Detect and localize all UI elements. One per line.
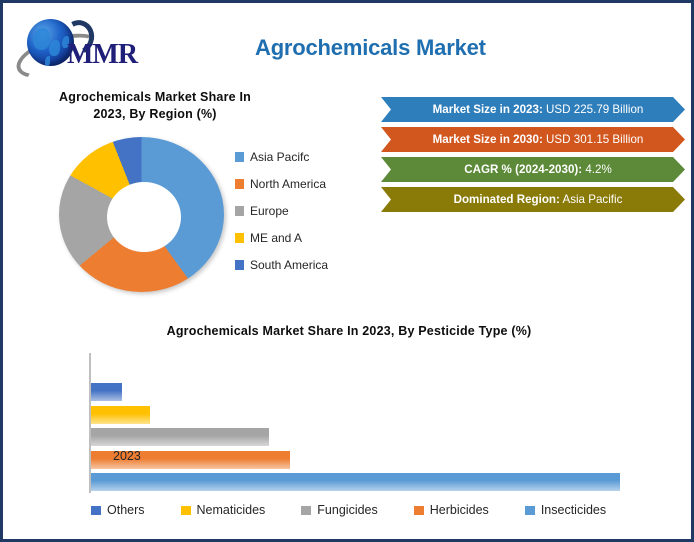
bar-fungicides xyxy=(91,428,269,446)
bar-chart-title: Agrochemicals Market Share In 2023, By P… xyxy=(13,323,685,340)
kpi-banner: Market Size in 2023: USD 225.79 Billion xyxy=(381,97,685,122)
bar-legend-label: Herbicides xyxy=(430,503,489,517)
donut-graphic xyxy=(59,137,229,297)
kpi-banner-value: 4.2% xyxy=(582,163,612,176)
kpi-banner-value: USD 225.79 Billion xyxy=(543,103,644,116)
bar-legend-label: Nematicides xyxy=(197,503,266,517)
kpi-banner-text: Market Size in 2023: USD 225.79 Billion xyxy=(423,103,644,116)
header: MMR Agrochemicals Market xyxy=(3,3,691,81)
donut-hole xyxy=(107,182,181,252)
bar-row xyxy=(91,451,649,469)
donut-legend-label: Europe xyxy=(250,204,289,218)
legend-swatch-icon xyxy=(235,233,244,243)
kpi-banner: Market Size in 2030: USD 301.15 Billion xyxy=(381,127,685,152)
logo-wordmark: MMR xyxy=(67,39,137,71)
bar-legend-item: Herbicides xyxy=(414,503,489,517)
pesticide-type-chart: Agrochemicals Market Share In 2023, By P… xyxy=(13,321,685,531)
donut-legend-label: ME and A xyxy=(250,231,302,245)
bar-legend-label: Others xyxy=(107,503,145,517)
donut-legend-label: North America xyxy=(250,177,326,191)
legend-swatch-icon xyxy=(301,506,311,515)
kpi-banner-label: Market Size in 2023: xyxy=(433,103,543,116)
bar-row xyxy=(91,428,649,446)
kpi-banner-label: Market Size in 2030: xyxy=(433,133,543,146)
bar-legend-label: Insecticides xyxy=(541,503,606,517)
kpi-banner-value: USD 301.15 Billion xyxy=(543,133,644,146)
bar-legend-item: Insecticides xyxy=(525,503,606,517)
donut-legend-label: South America xyxy=(250,258,328,272)
donut-chart-title: Agrochemicals Market Share In 2023, By R… xyxy=(25,89,285,123)
legend-swatch-icon xyxy=(235,179,244,189)
kpi-banner-text: Market Size in 2030: USD 301.15 Billion xyxy=(423,133,644,146)
kpi-banner-label: Dominated Region: xyxy=(454,193,560,206)
bar-legend-item: Nematicides xyxy=(181,503,266,517)
legend-swatch-icon xyxy=(525,506,535,515)
bar-legend-item: Others xyxy=(91,503,145,517)
legend-swatch-icon xyxy=(235,260,244,270)
donut-chart-title-line1: Agrochemicals Market Share In xyxy=(25,89,285,106)
legend-swatch-icon xyxy=(91,506,101,515)
legend-swatch-icon xyxy=(235,206,244,216)
donut-legend: Asia PacifcNorth AmericaEuropeME and ASo… xyxy=(235,143,360,278)
legend-swatch-icon xyxy=(181,506,191,515)
mmr-logo: MMR xyxy=(15,15,143,71)
legend-swatch-icon xyxy=(414,506,424,515)
infographic-page: MMR Agrochemicals Market Agrochemicals M… xyxy=(0,0,694,542)
bar-row xyxy=(91,383,649,401)
donut-legend-item: ME and A xyxy=(235,224,360,251)
bar-group xyxy=(91,383,649,496)
bar-others xyxy=(91,383,122,401)
page-title: Agrochemicals Market xyxy=(255,35,486,61)
bar-insecticides xyxy=(91,473,620,491)
bar-legend: OthersNematicidesFungicidesHerbicidesIns… xyxy=(91,503,651,517)
region-share-chart: Agrochemicals Market Share In 2023, By R… xyxy=(13,85,363,310)
donut-legend-label: Asia Pacifc xyxy=(250,150,309,164)
bar-plot-area: 2023 xyxy=(89,353,649,493)
donut-legend-item: North America xyxy=(235,170,360,197)
kpi-banner-list: Market Size in 2023: USD 225.79 BillionM… xyxy=(381,97,685,217)
donut-legend-item: South America xyxy=(235,251,360,278)
kpi-banner-label: CAGR % (2024-2030): xyxy=(464,163,582,176)
bar-legend-item: Fungicides xyxy=(301,503,377,517)
kpi-banner: CAGR % (2024-2030): 4.2% xyxy=(381,157,685,182)
kpi-banner: Dominated Region: Asia Pacific xyxy=(381,187,685,212)
bar-nematicides xyxy=(91,406,150,424)
category-axis-label: 2023 xyxy=(113,449,141,463)
kpi-banner-text: CAGR % (2024-2030): 4.2% xyxy=(454,163,612,176)
bar-row xyxy=(91,473,649,491)
legend-swatch-icon xyxy=(235,152,244,162)
donut-legend-item: Asia Pacifc xyxy=(235,143,360,170)
bar-legend-label: Fungicides xyxy=(317,503,377,517)
bar-row xyxy=(91,406,649,424)
kpi-banner-value: Asia Pacific xyxy=(560,193,623,206)
donut-chart-title-line2: 2023, By Region (%) xyxy=(25,106,285,123)
donut-legend-item: Europe xyxy=(235,197,360,224)
kpi-banner-text: Dominated Region: Asia Pacific xyxy=(444,193,623,206)
